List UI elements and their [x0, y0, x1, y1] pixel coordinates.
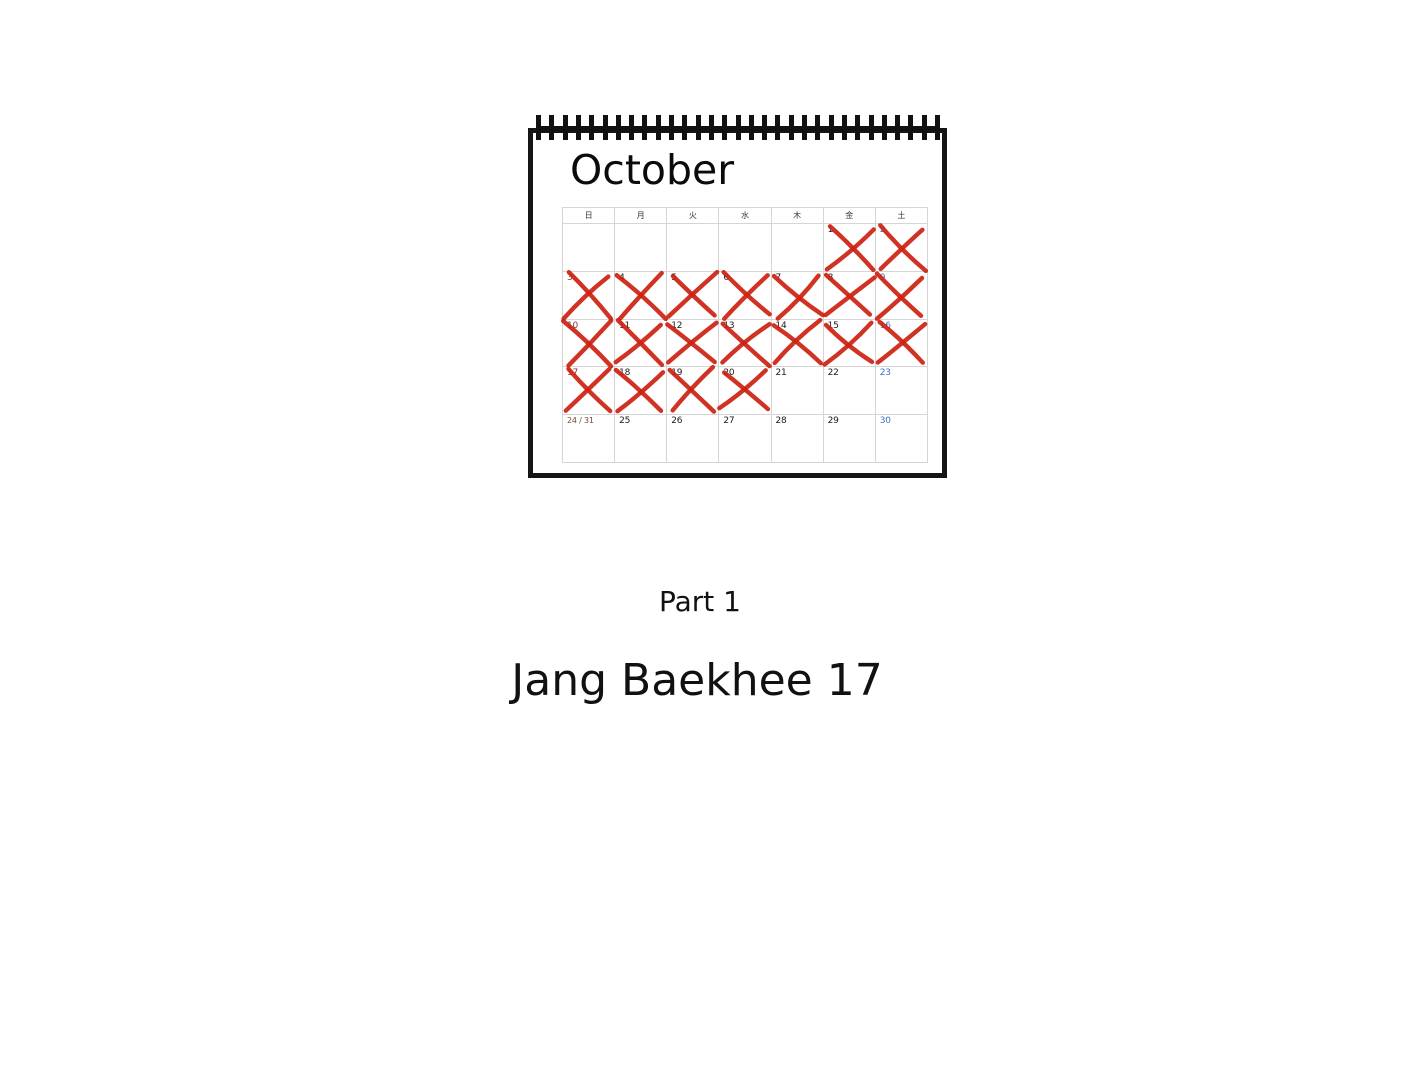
spiral-tooth: [855, 115, 860, 140]
calendar-day-number: 25: [619, 417, 630, 426]
calendar-day-number: 29: [828, 417, 839, 426]
spiral-tooth: [908, 115, 913, 140]
calendar-day-number: 23: [880, 369, 891, 378]
calendar-day-cell[interactable]: 26: [667, 415, 719, 463]
calendar-day-number: 21: [776, 369, 787, 378]
spiral-tooth: [749, 115, 754, 140]
calendar-day-cell[interactable]: 14: [771, 319, 823, 367]
calendar-grid: 日月火水木金土 12345678910111213141516171819202…: [562, 207, 928, 463]
calendar-empty-cell: [771, 224, 823, 272]
spiral-tooth: [616, 115, 621, 140]
spiral-tooth: [762, 115, 767, 140]
calendar-day-cell[interactable]: 24 / 31: [563, 415, 615, 463]
calendar-day-number: 24 / 31: [567, 417, 594, 425]
calendar-week-row: 10111213141516: [563, 319, 928, 367]
calendar-day-number: 27: [723, 417, 734, 426]
calendar-day-cell[interactable]: 20: [719, 367, 771, 415]
calendar-day-cell[interactable]: 6: [719, 271, 771, 319]
calendar-day-number: 10: [567, 322, 578, 331]
calendar-month-title: October: [570, 150, 734, 191]
calendar-day-number: 9: [880, 274, 886, 283]
calendar-day-number: 28: [776, 417, 787, 426]
calendar-day-number: 7: [776, 274, 782, 283]
spiral-tooth: [536, 115, 541, 140]
calendar-day-cell[interactable]: 23: [875, 367, 927, 415]
part-caption: Part 1: [0, 585, 1418, 618]
calendar-day-cell[interactable]: 21: [771, 367, 823, 415]
calendar-day-cell[interactable]: 3: [563, 271, 615, 319]
calendar-illustration: October 日月火水木金土 123456789101112131415161…: [528, 112, 948, 482]
spiral-tooth: [775, 115, 780, 140]
calendar-day-number: 14: [776, 322, 787, 331]
spiral-tooth: [576, 115, 581, 140]
spiral-tooth: [696, 115, 701, 140]
calendar-empty-cell: [615, 224, 667, 272]
calendar-body: 123456789101112131415161718192021222324 …: [563, 224, 928, 463]
spiral-binding: [536, 112, 940, 142]
calendar-day-cell[interactable]: 30: [875, 415, 927, 463]
calendar-day-number: 4: [619, 274, 625, 283]
calendar-day-cell[interactable]: 4: [615, 271, 667, 319]
calendar-day-cell[interactable]: 27: [719, 415, 771, 463]
calendar-weekday-header: 金: [823, 208, 875, 224]
calendar-day-number: 12: [671, 322, 682, 331]
calendar-day-cell[interactable]: 2: [875, 224, 927, 272]
calendar-day-number: 22: [828, 369, 839, 378]
calendar-day-number: 18: [619, 369, 630, 378]
calendar-week-row: 12: [563, 224, 928, 272]
calendar-day-cell[interactable]: 28: [771, 415, 823, 463]
spiral-tooth: [642, 115, 647, 140]
calendar-day-cell[interactable]: 1: [823, 224, 875, 272]
calendar-day-number: 1: [828, 226, 834, 235]
spiral-tooth: [563, 115, 568, 140]
calendar-day-cell[interactable]: 15: [823, 319, 875, 367]
calendar-day-number: 8: [828, 274, 834, 283]
calendar-day-cell[interactable]: 25: [615, 415, 667, 463]
spiral-tooth: [736, 115, 741, 140]
calendar-day-cell[interactable]: 18: [615, 367, 667, 415]
spiral-tooth: [935, 115, 940, 140]
calendar-day-cell[interactable]: 10: [563, 319, 615, 367]
calendar-day-number: 6: [723, 274, 729, 283]
spiral-tooth: [709, 115, 714, 140]
spiral-tooth: [603, 115, 608, 140]
calendar-day-cell[interactable]: 16: [875, 319, 927, 367]
calendar-day-number: 30: [880, 417, 891, 426]
spiral-tooth: [815, 115, 820, 140]
spiral-tooth: [882, 115, 887, 140]
calendar-weekday-header-row: 日月火水木金土: [563, 208, 928, 224]
calendar-weekday-header: 日: [563, 208, 615, 224]
calendar-empty-cell: [719, 224, 771, 272]
spiral-tooth: [682, 115, 687, 140]
spiral-tooth: [922, 115, 927, 140]
spiral-tooth: [842, 115, 847, 140]
part-caption-text: Part 1: [659, 585, 741, 618]
calendar-empty-cell: [667, 224, 719, 272]
calendar-weekday-header: 水: [719, 208, 771, 224]
calendar-day-number: 17: [567, 369, 578, 378]
calendar-day-cell[interactable]: 19: [667, 367, 719, 415]
calendar-empty-cell: [563, 224, 615, 272]
spiral-tooth: [669, 115, 674, 140]
calendar-day-number: 3: [567, 274, 573, 283]
calendar-day-cell[interactable]: 9: [875, 271, 927, 319]
calendar-day-cell[interactable]: 11: [615, 319, 667, 367]
calendar-day-cell[interactable]: 8: [823, 271, 875, 319]
spiral-tooth: [829, 115, 834, 140]
calendar-day-number: 16: [880, 322, 891, 331]
spiral-tooth: [869, 115, 874, 140]
calendar-day-cell[interactable]: 17: [563, 367, 615, 415]
calendar-day-cell[interactable]: 29: [823, 415, 875, 463]
calendar-day-cell[interactable]: 5: [667, 271, 719, 319]
spiral-tooth: [549, 115, 554, 140]
calendar-day-cell[interactable]: 12: [667, 319, 719, 367]
slide-title: Jang Baekhee 17: [0, 655, 1418, 706]
spiral-tooth: [656, 115, 661, 140]
calendar-day-number: 2: [880, 226, 886, 235]
calendar-day-number: 20: [723, 369, 734, 378]
calendar-week-row: 17181920212223: [563, 367, 928, 415]
spiral-tooth: [722, 115, 727, 140]
calendar-day-number: 15: [828, 322, 839, 331]
calendar-weekday-header: 火: [667, 208, 719, 224]
calendar-weekday-header: 土: [875, 208, 927, 224]
spiral-tooth: [802, 115, 807, 140]
spiral-tooth: [789, 115, 794, 140]
calendar-day-cell[interactable]: 7: [771, 271, 823, 319]
calendar-day-number: 19: [671, 369, 682, 378]
calendar-weekday-header: 月: [615, 208, 667, 224]
slide-title-text: Jang Baekhee 17: [511, 655, 882, 706]
spiral-tooth: [589, 115, 594, 140]
calendar-day-number: 11: [619, 322, 630, 331]
spiral-tooth: [629, 115, 634, 140]
calendar-week-row: 24 / 31252627282930: [563, 415, 928, 463]
calendar-day-cell[interactable]: 13: [719, 319, 771, 367]
calendar-weekday-header: 木: [771, 208, 823, 224]
calendar-day-cell[interactable]: 22: [823, 367, 875, 415]
calendar-day-number: 5: [671, 274, 677, 283]
calendar-week-row: 3456789: [563, 271, 928, 319]
spiral-tooth: [895, 115, 900, 140]
calendar-day-number: 13: [723, 322, 734, 331]
calendar-day-number: 26: [671, 417, 682, 426]
